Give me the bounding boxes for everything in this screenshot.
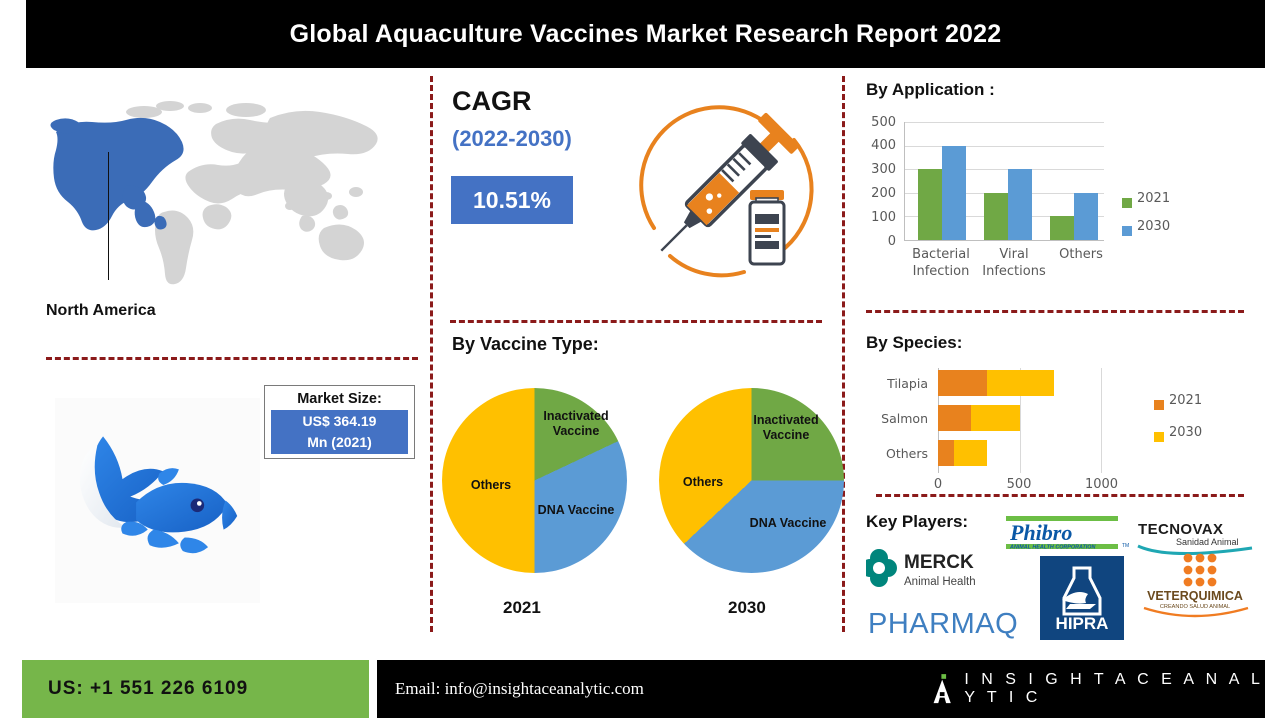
- logo-pharmaq: PHARMAQ: [866, 606, 1024, 640]
- species-cat-tilapia: Tilapia: [866, 376, 928, 391]
- species-legend-label-2030: 2030: [1169, 425, 1202, 440]
- species-legend-label-2021: 2021: [1169, 393, 1202, 408]
- pie-2021-caption: 2021: [503, 598, 541, 618]
- map-pointer-line: [108, 152, 109, 280]
- fish-illustration: [55, 398, 260, 603]
- app-axis-x: [904, 240, 1104, 241]
- divider-vertical-left: [430, 76, 433, 632]
- logo-veterquimica: VETERQUIMICA CREANDO SALUD ANIMAL: [1134, 550, 1256, 620]
- svg-text:CREANDO SALUD ANIMAL: CREANDO SALUD ANIMAL: [1160, 604, 1230, 610]
- app-xtick-others: Others: [1050, 246, 1112, 263]
- footer-phone: US: +1 551 226 6109: [48, 660, 248, 718]
- species-bar-2021-tilapia: [938, 370, 987, 396]
- market-size-value: US$ 364.19 Mn (2021): [271, 410, 408, 454]
- app-bar-2030-viral: [1008, 169, 1032, 240]
- footer-bar: Email: info@insightaceanalytic.com I N S…: [377, 660, 1265, 718]
- footer-brand: I N S I G H T A C E A N A L Y T I C: [932, 660, 1265, 718]
- species-xtick-500: 500: [999, 477, 1039, 492]
- species-legend-swatch-2030: [1154, 432, 1164, 442]
- svg-text:MERCK: MERCK: [904, 552, 974, 573]
- species-title: By Species:: [866, 333, 962, 353]
- divider-horizontal-left: [46, 357, 418, 360]
- species-cat-others: Others: [866, 446, 928, 461]
- page-title: Global Aquaculture Vaccines Market Resea…: [26, 0, 1265, 68]
- app-ytick-300: 300: [866, 162, 896, 177]
- species-bar-chart: Tilapia Salmon Others 0 500 1000 2021 20…: [866, 362, 1196, 492]
- market-size-value-line1: US$ 364.19: [271, 411, 408, 432]
- market-size-title: Market Size:: [297, 391, 382, 407]
- species-cat-salmon: Salmon: [866, 411, 928, 426]
- svg-text:HIPRA: HIPRA: [1056, 614, 1109, 633]
- app-xtick-viral: ViralInfections: [970, 246, 1058, 280]
- logo-phibro: Phibro ANIMAL HEALTH CORPORATION TM: [1004, 514, 1134, 554]
- app-bar-2021-others: [1050, 216, 1074, 240]
- species-bar-2021-others: [938, 440, 954, 466]
- app-legend-label-2030: 2030: [1137, 219, 1170, 234]
- app-bar-2021-bacterial: [918, 169, 942, 240]
- species-bar-2030-others: [954, 440, 987, 466]
- vaccine-type-title: By Vaccine Type:: [452, 334, 599, 355]
- species-gridline-1000: [1101, 368, 1102, 473]
- species-bar-2030-salmon: [971, 405, 1020, 431]
- insight-ace-logo-icon: [932, 669, 952, 709]
- footer-phone-bar: US: +1 551 226 6109: [22, 660, 369, 718]
- footer-brand-name: I N S I G H T A C E A N A L Y T I C: [964, 671, 1265, 707]
- svg-text:Sanidad Animal: Sanidad Animal: [1176, 537, 1239, 547]
- svg-text:Animal Health: Animal Health: [904, 576, 976, 588]
- svg-text:ANIMAL HEALTH CORPORATION: ANIMAL HEALTH CORPORATION: [1009, 545, 1095, 551]
- pie-2030-caption: 2030: [728, 598, 766, 618]
- cagr-years: (2022-2030): [452, 126, 572, 152]
- pie-2021-label-dna: DNA Vaccine: [526, 503, 626, 518]
- svg-text:PHARMAQ: PHARMAQ: [868, 608, 1018, 640]
- species-xtick-1000: 1000: [1079, 477, 1124, 492]
- pie-2021-label-inactivated: InactivatedVaccine: [528, 409, 624, 439]
- pie-2030-label-inactivated: InactivatedVaccine: [740, 413, 832, 443]
- svg-text:TECNOVAX: TECNOVAX: [1138, 521, 1223, 538]
- app-legend-swatch-2030: [1122, 226, 1132, 236]
- market-size-value-line2: Mn (2021): [271, 432, 408, 453]
- region-label: North America: [46, 302, 156, 320]
- divider-vertical-right: [842, 76, 845, 632]
- divider-horizontal-right-top: [866, 310, 1244, 313]
- pie-2030-label-others: Others: [668, 475, 738, 490]
- species-xtick-0: 0: [918, 477, 958, 492]
- app-ytick-500: 500: [866, 115, 896, 130]
- logo-merck: MERCK Animal Health: [866, 546, 1012, 590]
- divider-horizontal-middle: [450, 320, 822, 323]
- app-legend-label-2021: 2021: [1137, 191, 1170, 206]
- app-ytick-400: 400: [866, 138, 896, 153]
- application-title: By Application :: [866, 80, 995, 100]
- svg-text:VETERQUIMICA: VETERQUIMICA: [1147, 589, 1243, 603]
- pie-2021-label-others: Others: [456, 478, 526, 493]
- logo-hipra: HIPRA: [1040, 556, 1124, 640]
- cagr-title: CAGR: [452, 86, 532, 117]
- divider-horizontal-right-bottom: [876, 494, 1244, 497]
- app-bar-2021-viral: [984, 193, 1008, 240]
- svg-text:Phibro: Phibro: [1009, 520, 1072, 545]
- app-ytick-100: 100: [866, 210, 896, 225]
- app-bar-2030-others: [1074, 193, 1098, 240]
- header-bar: Global Aquaculture Vaccines Market Resea…: [26, 0, 1265, 68]
- world-map: [38, 88, 398, 298]
- app-bar-2030-bacterial: [942, 146, 966, 240]
- app-ytick-200: 200: [866, 186, 896, 201]
- syringe-vial-icon: [612, 80, 832, 300]
- species-bar-2021-salmon: [938, 405, 971, 431]
- app-ytick-0: 0: [866, 234, 896, 249]
- key-players-title: Key Players:: [866, 512, 968, 532]
- market-size-card: Market Size: US$ 364.19 Mn (2021): [264, 385, 415, 459]
- pie-2030-label-dna: DNA Vaccine: [738, 516, 838, 531]
- species-bar-2030-tilapia: [987, 370, 1054, 396]
- svg-text:TM: TM: [1122, 543, 1129, 549]
- footer-email: Email: info@insightaceanalytic.com: [395, 660, 644, 718]
- species-legend-swatch-2021: [1154, 400, 1164, 410]
- cagr-value: 10.51%: [451, 176, 573, 224]
- application-bar-chart: 500 400 300 200 100 0 BacterialInfection…: [866, 110, 1196, 285]
- app-legend-swatch-2021: [1122, 198, 1132, 208]
